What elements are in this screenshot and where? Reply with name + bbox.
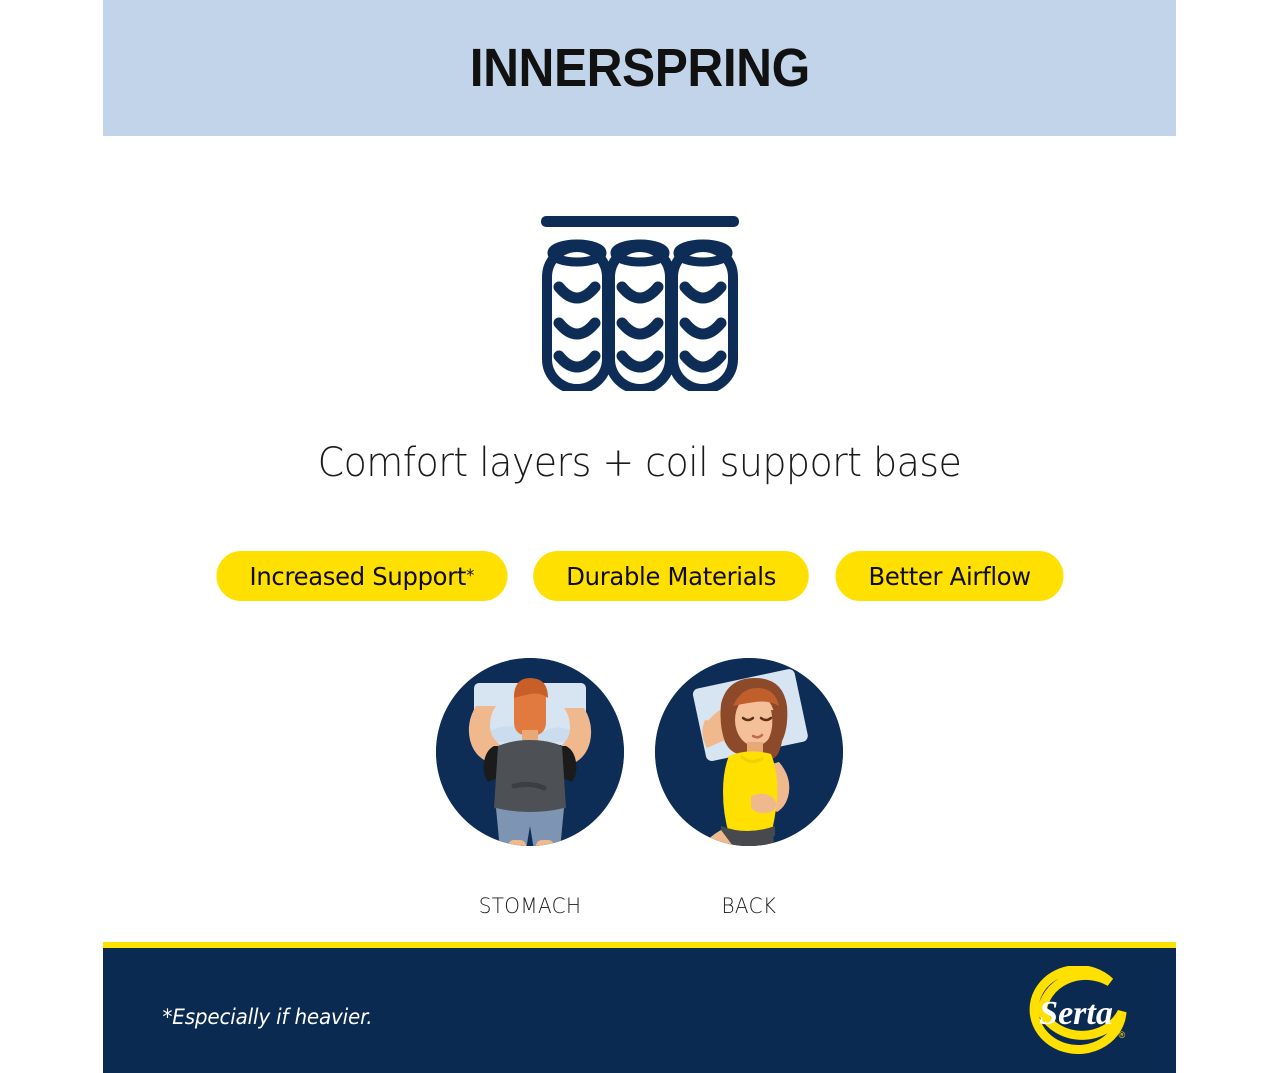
sleep-position-back: BACK xyxy=(655,658,843,918)
innerspring-infographic: INNERSPRING xyxy=(0,0,1280,1073)
feature-pill-durable-materials[interactable]: Durable Materials xyxy=(534,551,810,601)
sleep-position-stomach: STOMACH xyxy=(436,658,624,918)
feature-pill-label: Better Airflow xyxy=(868,562,1030,591)
feature-pill-increased-support[interactable]: Increased Support* xyxy=(216,551,507,601)
tagline-text: Comfort layers + coil support base xyxy=(130,440,1149,486)
coil-icon-container xyxy=(103,196,1176,396)
feature-pill-label: Increased Support xyxy=(249,562,466,591)
back-sleeper-illustration xyxy=(655,658,843,846)
serta-logo-text: Serta xyxy=(1039,995,1113,1032)
sleep-position-label: BACK xyxy=(722,894,777,918)
stomach-sleeper-illustration xyxy=(436,658,624,846)
sleep-position-label: STOMACH xyxy=(479,894,582,918)
feature-pill-label: Durable Materials xyxy=(567,562,777,591)
footnote-text: *Especially if heavier. xyxy=(163,1005,373,1029)
infographic-card: INNERSPRING xyxy=(103,0,1176,1073)
header-banner: INNERSPRING xyxy=(103,0,1176,136)
footer-bar: *Especially if heavier. Serta ® xyxy=(103,942,1176,1073)
back-sleeper-circle xyxy=(655,658,843,846)
serta-logo-mark: Serta ® xyxy=(1022,966,1134,1058)
feature-pill-better-airflow[interactable]: Better Airflow xyxy=(835,551,1063,601)
page-title: INNERSPRING xyxy=(470,37,810,99)
serta-logo: Serta ® xyxy=(1022,966,1134,1058)
registered-mark: ® xyxy=(1119,1030,1126,1040)
feature-pill-list: Increased Support* Durable Materials Bet… xyxy=(103,551,1176,601)
stomach-sleeper-circle xyxy=(436,658,624,846)
sleep-position-list: STOMACH xyxy=(103,658,1176,918)
coil-springs-icon xyxy=(535,201,745,391)
